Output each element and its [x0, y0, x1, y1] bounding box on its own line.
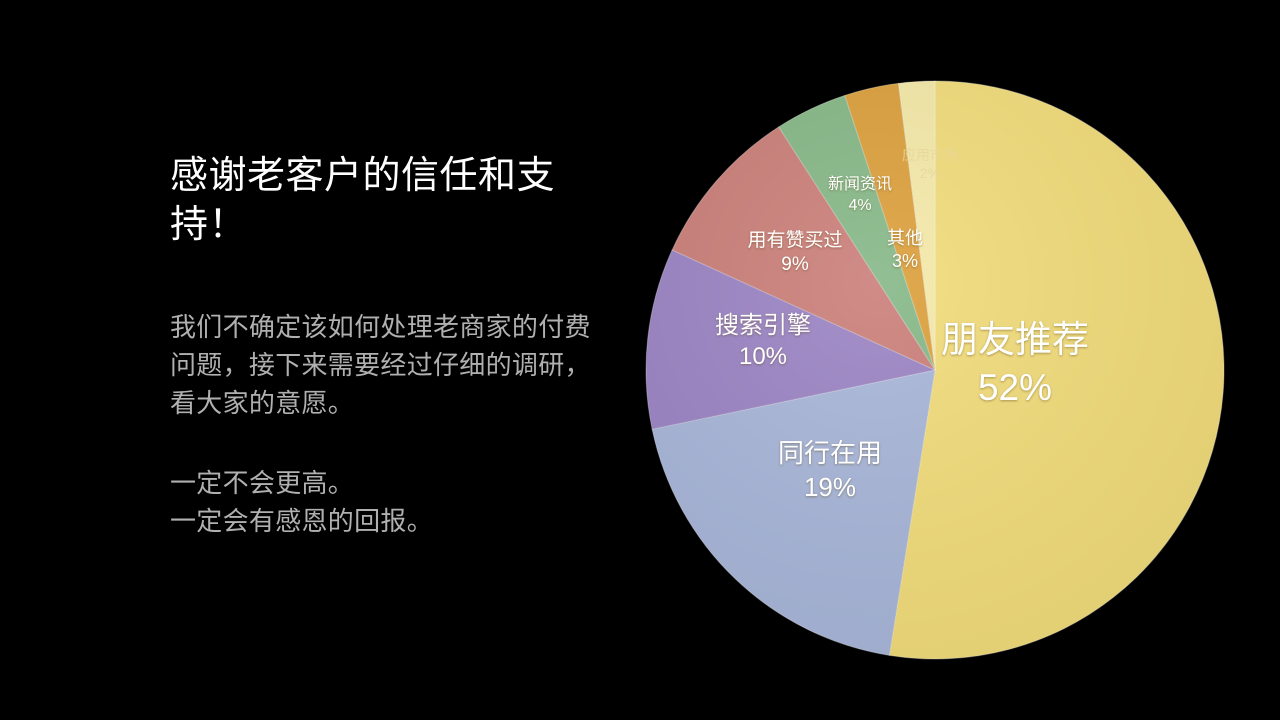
body-paragraph-2: 一定不会更高。 一定会有感恩的回报。 [170, 465, 600, 541]
body-paragraph-1: 我们不确定该如何处理老商家的付费问题，接下来需要经过仔细的调研，看大家的意愿。 [170, 309, 600, 423]
pie-slice [889, 81, 1224, 659]
presentation-slide: 感谢老客户的信任和支持！ 我们不确定该如何处理老商家的付费问题，接下来需要经过仔… [0, 0, 1280, 720]
pie-svg [645, 80, 1225, 660]
slide-text-column: 感谢老客户的信任和支持！ 我们不确定该如何处理老商家的付费问题，接下来需要经过仔… [170, 152, 600, 541]
pie-slice-group [646, 81, 1224, 659]
pie-chart-canvas: 朋友推荐 52% 同行在用 19% 搜索引擎 10% 用有赞买过 9% 新闻资讯… [645, 80, 1225, 660]
page-title: 感谢老客户的信任和支持！ [170, 152, 600, 249]
slide-body: 我们不确定该如何处理老商家的付费问题，接下来需要经过仔细的调研，看大家的意愿。 … [170, 309, 600, 541]
pie-chart: 朋友推荐 52% 同行在用 19% 搜索引擎 10% 用有赞买过 9% 新闻资讯… [645, 80, 1235, 670]
